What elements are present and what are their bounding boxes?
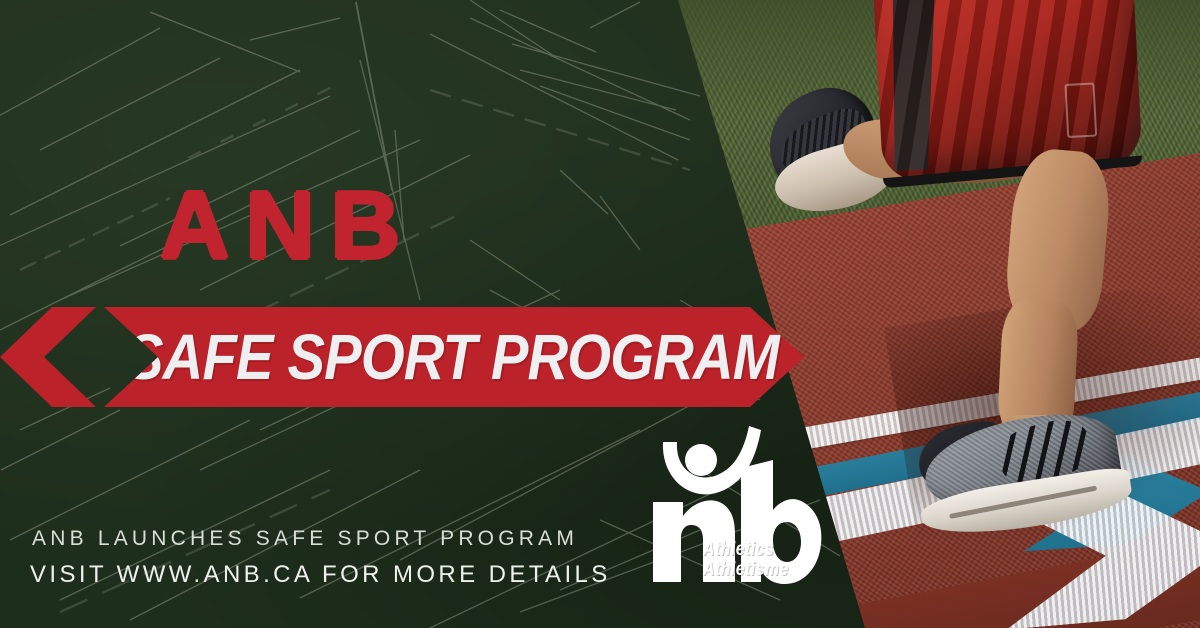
footer-text-block: ANB LAUNCHES SAFE SPORT PROGRAM VISIT WW… [32, 524, 611, 592]
ribbon-left-chevron-icon [0, 307, 96, 407]
logo-subtitle-fr: Athletisme [703, 560, 789, 580]
footer-line-2: VISIT WWW.ANB.CA FOR MORE DETAILS [30, 558, 611, 592]
logo-subtitle-en: Athletics [703, 540, 789, 560]
shorts-folds [873, 0, 1143, 182]
anb-wordmark: ANB [160, 178, 416, 274]
headline-ribbon: SAFE SPORT PROGRAM [0, 307, 860, 407]
anb-athletics-logo: Athletics Athletisme [645, 424, 825, 592]
logo-subtitle: Athletics Athletisme [703, 540, 789, 580]
ribbon-body: SAFE SPORT PROGRAM [104, 307, 804, 407]
poster-canvas: ANB ANB LAUNCHES SAFE SPORT PROGRAM VISI… [0, 0, 1200, 628]
footer-line-1: ANB LAUNCHES SAFE SPORT PROGRAM [32, 524, 611, 554]
runner-shorts [873, 0, 1143, 182]
headline-text: SAFE SPORT PROGRAM [126, 325, 779, 389]
shorts-logo-tag [1064, 82, 1097, 137]
